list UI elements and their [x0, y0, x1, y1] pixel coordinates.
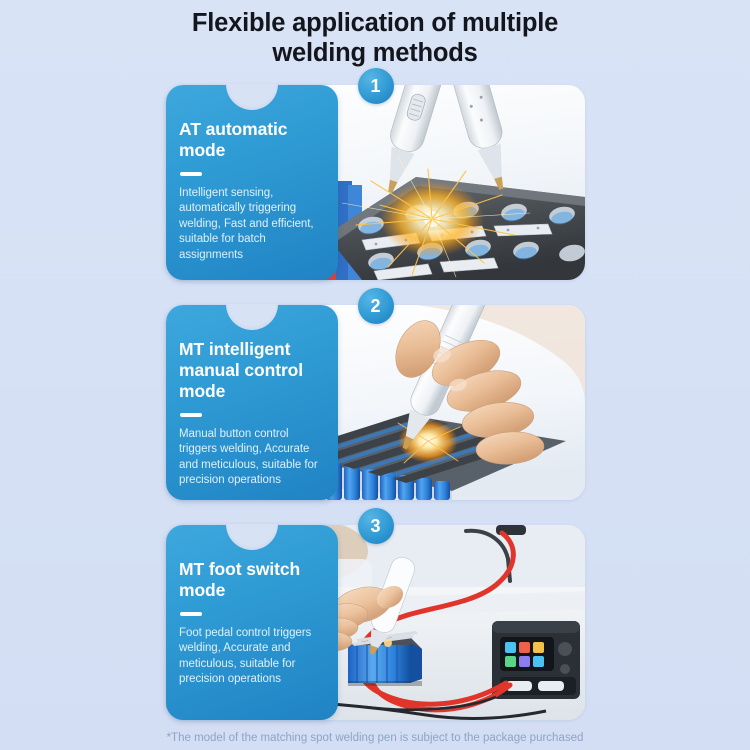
step-badge-3: 3 [358, 508, 394, 544]
mode-card-2-panel: MT intelligent manual control mode Manua… [166, 305, 338, 500]
badge-notch [226, 524, 278, 550]
mode-card-3-panel: MT foot switch mode Foot pedal control t… [166, 525, 338, 720]
mode-card-2-title: MT intelligent manual control mode [179, 339, 326, 402]
infographic-page: Flexible application of multiple welding… [0, 0, 750, 750]
mode-card-3-title: MT foot switch mode [179, 559, 326, 601]
page-title-line-1: Flexible application of multiple [0, 8, 750, 38]
mode-card-1-title: AT automatic mode [179, 119, 326, 161]
mode-card-1[interactable]: AT automatic mode Intelligent sensing, a… [166, 85, 585, 280]
mode-card-1-description: Intelligent sensing, automatically trigg… [179, 186, 326, 264]
badge-notch [226, 304, 278, 330]
mode-card-3-description: Foot pedal control triggers welding, Acc… [179, 626, 326, 688]
title-divider [180, 172, 202, 176]
page-title: Flexible application of multiple welding… [0, 8, 750, 68]
mode-card-2[interactable]: MT intelligent manual control mode Manua… [166, 305, 585, 500]
step-badge-1: 1 [358, 68, 394, 104]
page-title-line-2: welding methods [0, 38, 750, 68]
title-divider [180, 612, 202, 616]
badge-notch [226, 84, 278, 110]
mode-card-2-description: Manual button control triggers welding, … [179, 427, 326, 489]
title-divider [180, 413, 202, 417]
footer-disclaimer: *The model of the matching spot welding … [0, 731, 750, 746]
step-badge-2: 2 [358, 288, 394, 324]
mode-card-1-panel: AT automatic mode Intelligent sensing, a… [166, 85, 338, 280]
mode-card-3[interactable]: MT foot switch mode Foot pedal control t… [166, 525, 585, 720]
